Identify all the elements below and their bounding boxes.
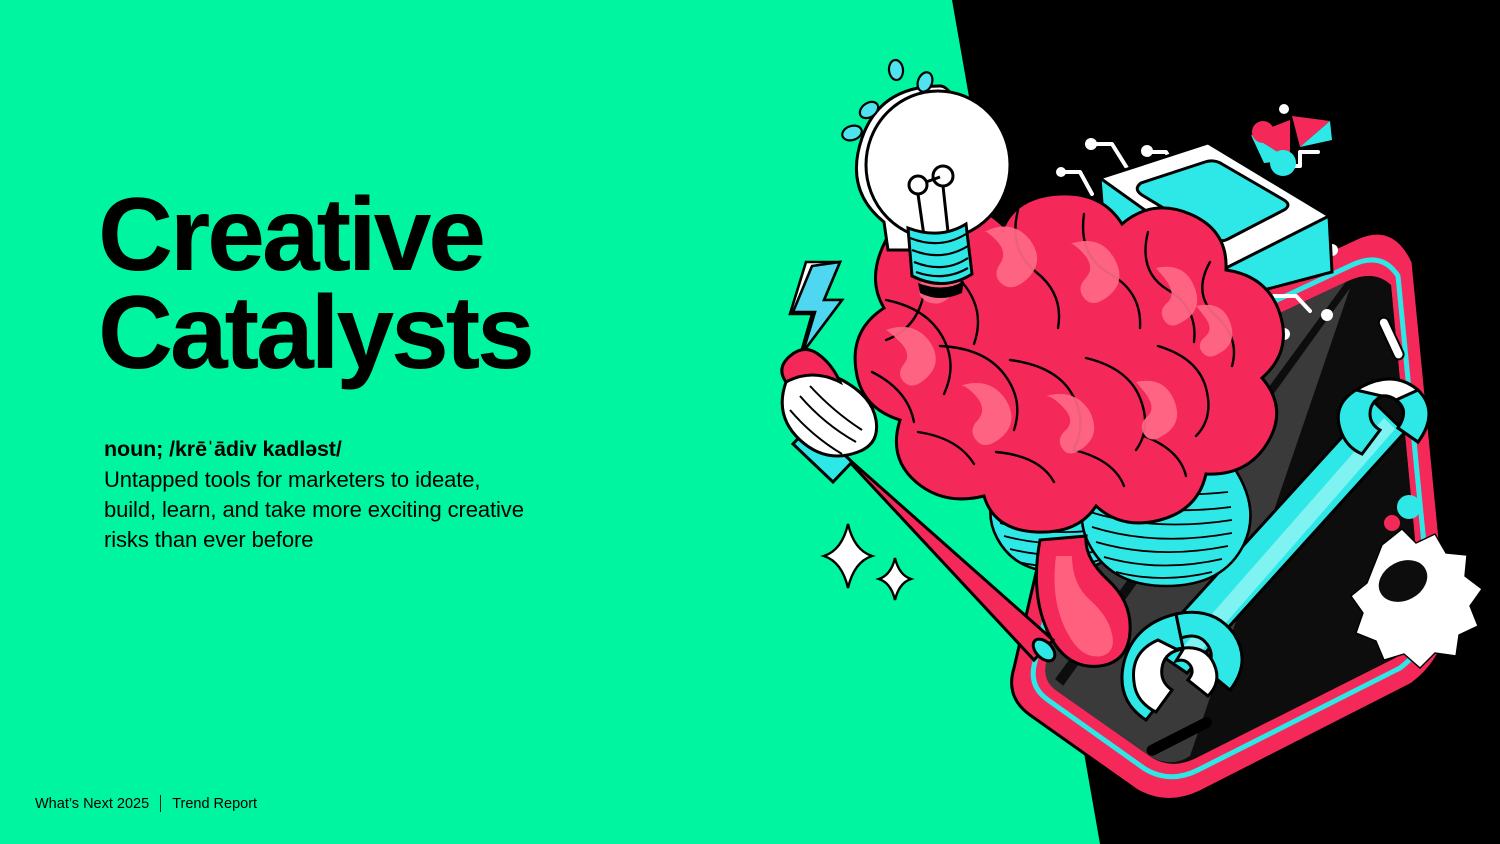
footer-right-label: Trend Report	[172, 796, 257, 812]
footer-divider	[160, 795, 161, 812]
slide-canvas: Creative Catalysts noun; /krēˈādiv kadlə…	[0, 0, 1500, 844]
definition-body: Untapped tools for marketers to ideate, …	[104, 465, 628, 555]
text-column: Creative Catalysts noun; /krēˈādiv kadlə…	[98, 186, 738, 555]
footer: What’s Next 2025 Trend Report	[35, 795, 257, 812]
footer-left-label: What’s Next 2025	[35, 796, 149, 812]
definition-term: noun; /krēˈādiv kadləst/	[104, 434, 628, 464]
definition-block: noun; /krēˈādiv kadləst/ Untapped tools …	[98, 434, 628, 555]
page-title: Creative Catalysts	[98, 186, 738, 382]
